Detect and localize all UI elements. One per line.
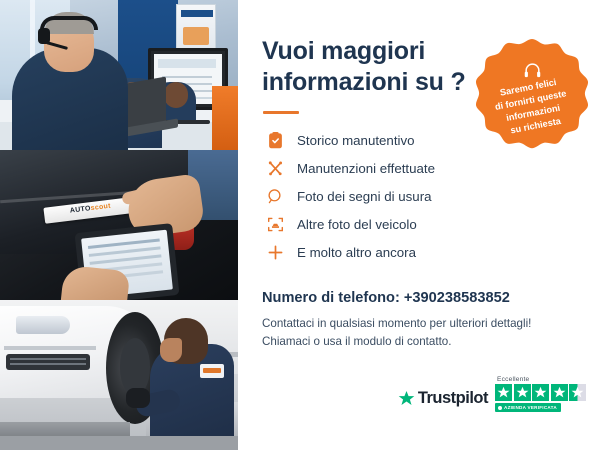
trustpilot-logo: Trustpilot	[398, 389, 488, 412]
wrench-screwdriver-icon	[262, 160, 288, 177]
verified-business-badge: AZIENDA VERIFICATA	[495, 403, 561, 412]
feature-label: Manutenzioni effettuate	[288, 161, 435, 176]
accent-divider	[263, 111, 299, 114]
star-filled-1	[495, 384, 512, 401]
photo-column: AUTOscout	[0, 0, 238, 450]
car-photo-frame-icon	[262, 216, 288, 233]
feature-item-molto-altro: E molto altro ancora	[262, 238, 578, 266]
feature-label: E molto altro ancora	[288, 245, 416, 260]
star-filled-2	[514, 384, 531, 401]
contact-note-line-1: Contattaci in qualsiasi momento per ulte…	[262, 315, 578, 333]
phone-line: Numero di telefono: +390238583852	[262, 290, 578, 306]
page-title: Vuoi maggiori informazioni su ?	[262, 36, 477, 97]
trustpilot-stars	[495, 384, 586, 401]
phone-number[interactable]: +390238583852	[404, 290, 510, 306]
plus-icon	[262, 244, 288, 261]
feature-item-altre-foto-veicolo: Altre foto del veicolo	[262, 210, 578, 238]
trustpilot-rating[interactable]: Trustpilot Eccellente AZIENDA VERIFICATA	[398, 376, 586, 412]
contact-note-line-2: Chiamaci o usa il modulo di contatto.	[262, 333, 578, 351]
feature-label: Foto dei segni di usura	[288, 189, 432, 204]
feature-item-foto-segni-usura: Foto dei segni di usura	[262, 182, 578, 210]
magnifier-icon	[262, 188, 288, 205]
promo-banner: AUTOscout Vuoi maggio	[0, 0, 600, 450]
photo-mechanic-servicing-white-car-tire	[0, 300, 238, 450]
photo-call-center-agents-with-headsets	[0, 0, 238, 150]
info-request-seal-badge: Saremo felici di fornirti queste informa…	[476, 37, 588, 149]
star-half-5	[569, 384, 586, 401]
trustpilot-rating-label: Eccellente	[495, 376, 529, 383]
contact-note: Contattaci in qualsiasi momento per ulte…	[262, 315, 578, 351]
clipboard-check-icon	[262, 132, 288, 149]
feature-item-manutenzioni-effettuate: Manutenzioni effettuate	[262, 154, 578, 182]
verified-check-icon	[498, 406, 502, 410]
verified-badge-label: AZIENDA VERIFICATA	[504, 405, 557, 410]
photo-technician-inspecting-car-with-tablet: AUTOscout	[0, 150, 238, 300]
phone-label: Numero di telefono:	[262, 290, 404, 306]
trustpilot-brand: Trustpilot	[418, 389, 488, 408]
trustpilot-star-icon	[398, 390, 415, 407]
feature-label: Altre foto del veicolo	[288, 217, 417, 232]
headline-line-1: Vuoi maggiori	[262, 36, 477, 67]
trustpilot-score-block: Eccellente AZIENDA VERIFICATA	[495, 376, 586, 412]
star-filled-4	[551, 384, 568, 401]
star-filled-3	[532, 384, 549, 401]
headline-line-2: informazioni su ?	[262, 67, 477, 98]
feature-label: Storico manutentivo	[288, 133, 415, 148]
content-panel: Vuoi maggiori informazioni su ? Saremo f…	[238, 0, 600, 450]
